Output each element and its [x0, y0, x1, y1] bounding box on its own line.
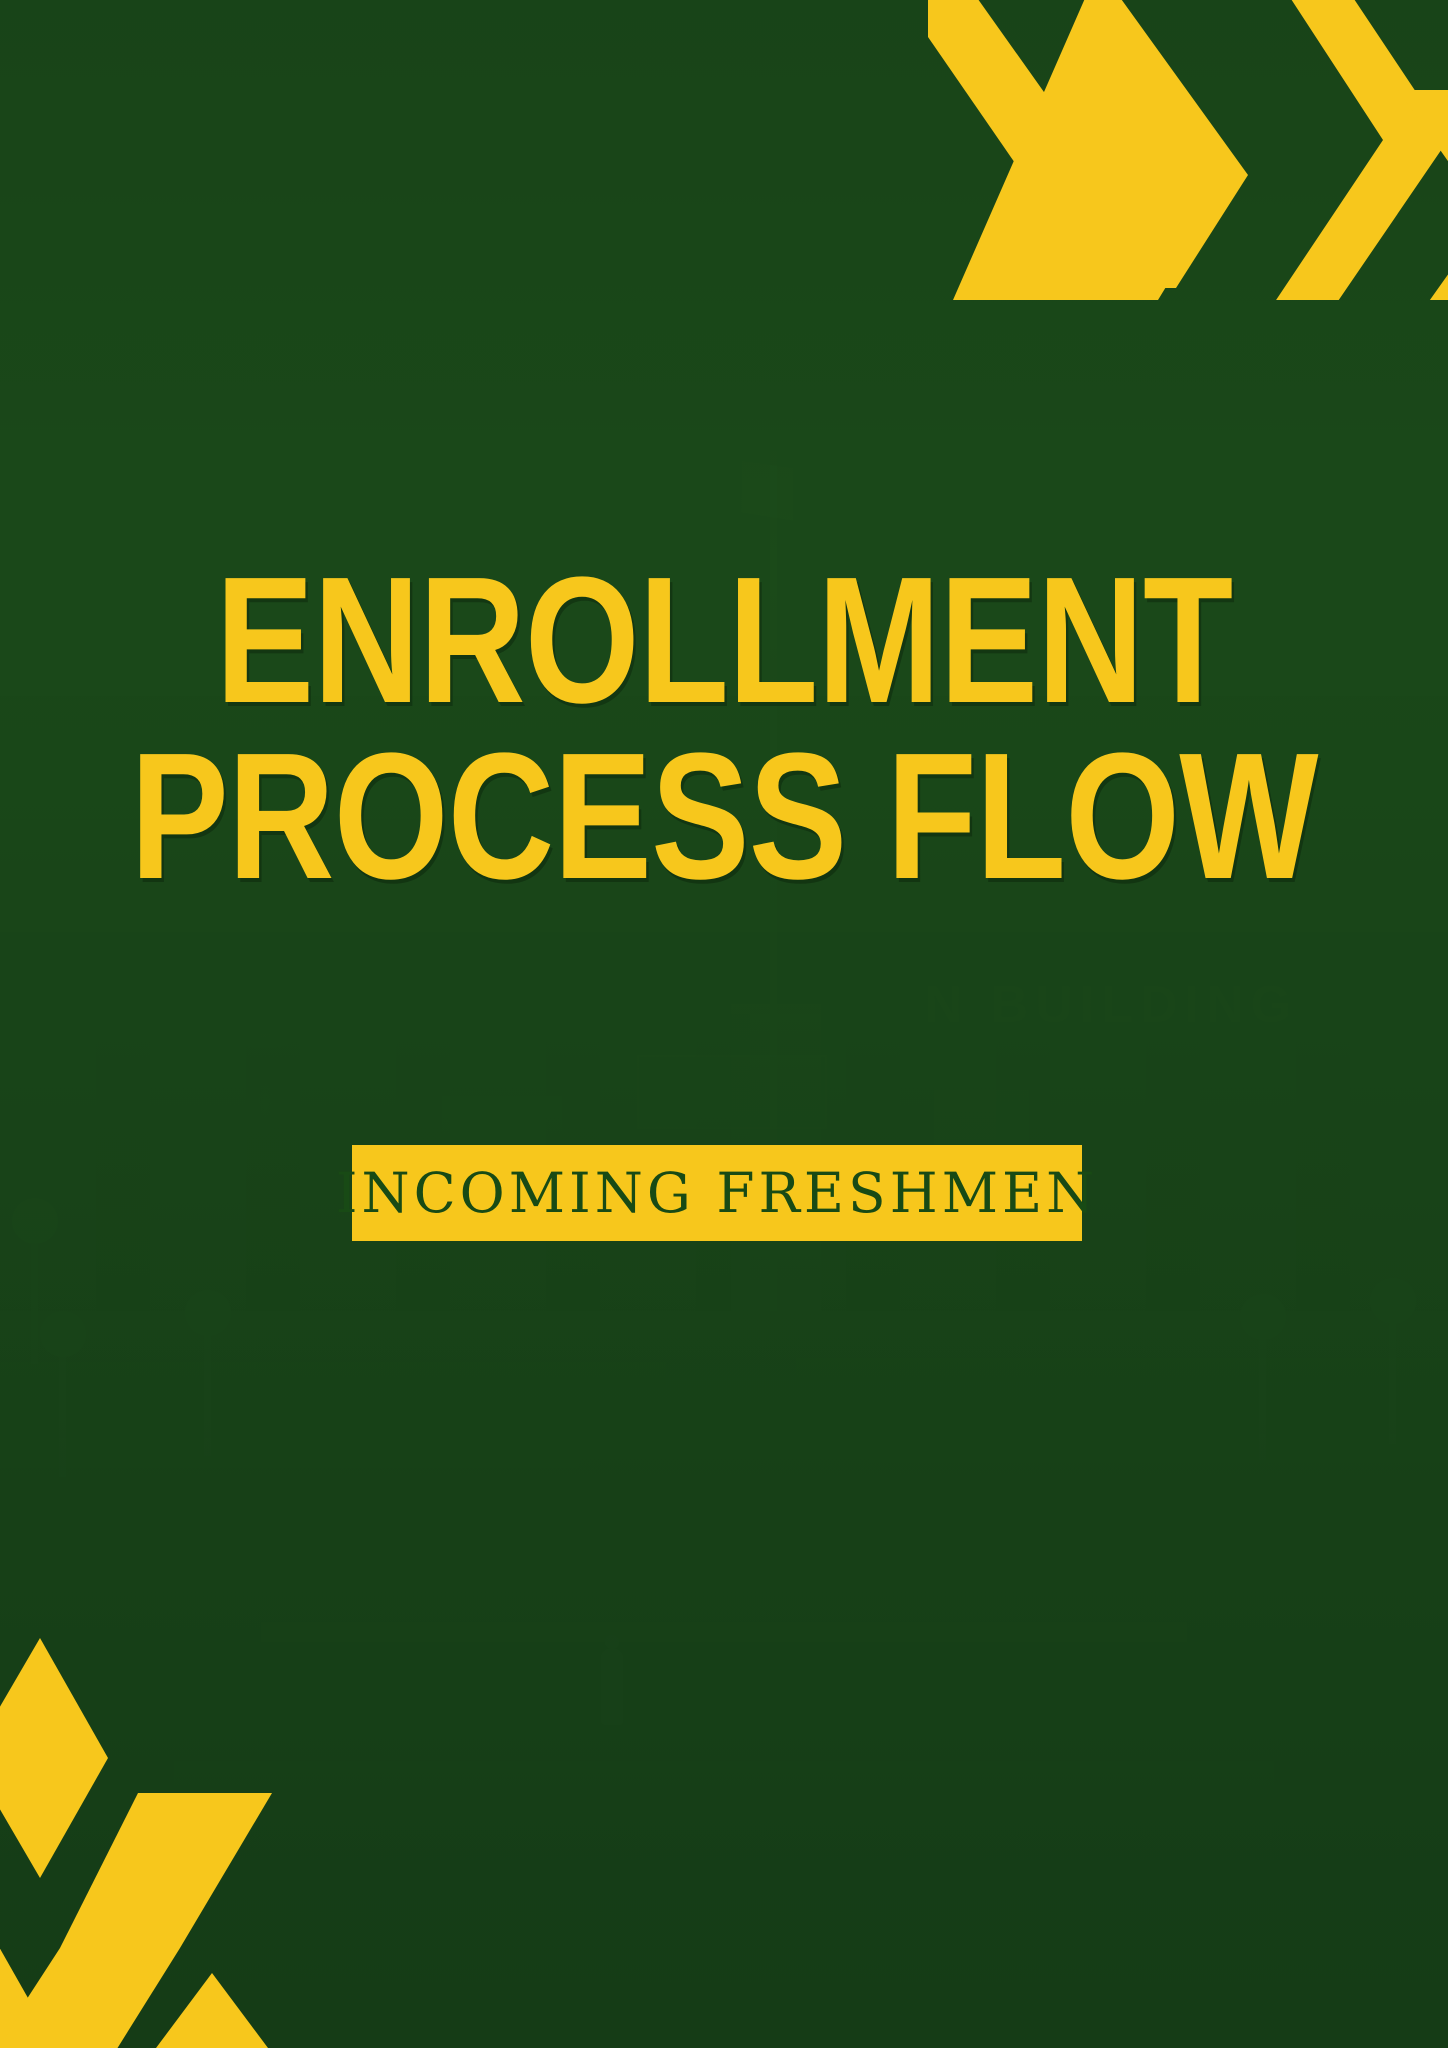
- chevron-decoration-top-right: [928, 0, 1448, 300]
- subtitle-text: INCOMING FRESHMEN: [336, 1166, 1099, 1221]
- poster-title-block: ENROLLMENT PROCESS FLOW: [0, 560, 1448, 898]
- poster-canvas: N BUILDING: [0, 0, 1448, 2048]
- title-line-2: PROCESS FLOW: [130, 736, 1317, 898]
- subtitle-bar: INCOMING FRESHMEN: [352, 1145, 1082, 1241]
- chevron-decoration-bottom-left: [0, 1628, 300, 2048]
- chevron-shape: [1024, 0, 1248, 288]
- title-line-1: ENROLLMENT: [130, 560, 1317, 722]
- chevron-shape: [0, 1638, 108, 1878]
- chevron-shape: [156, 1973, 268, 2048]
- chevron-shape: [1246, 0, 1448, 300]
- chevron-shape: [60, 1793, 272, 1948]
